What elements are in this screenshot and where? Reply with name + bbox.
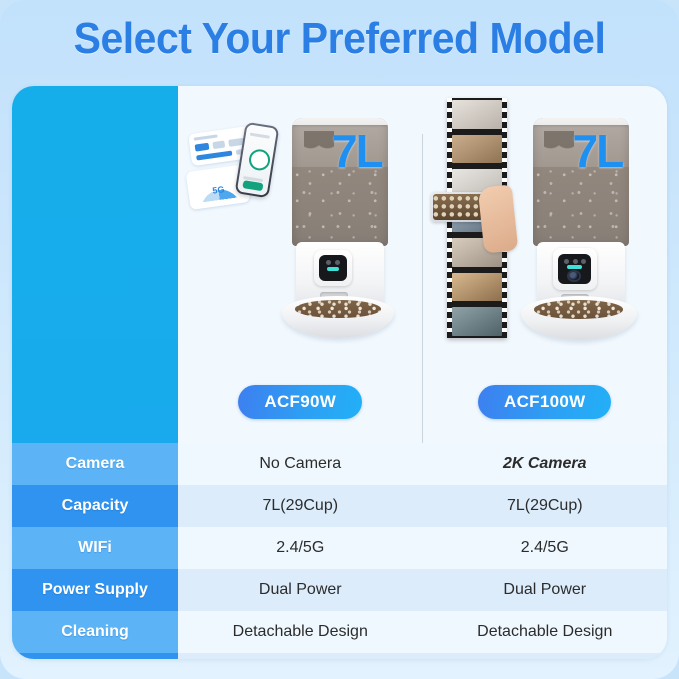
spec-label-wifi: WIFi <box>12 527 178 569</box>
spec-value-acf100w: 2K Camera <box>423 443 668 485</box>
spec-label-power-supply: Power Supply <box>12 569 178 611</box>
control-panel-screen-camera <box>558 254 591 284</box>
capacity-overlay-acf100w: 7L <box>573 124 623 178</box>
gauge-label: 5G <box>212 184 225 196</box>
spec-value-acf90w: APP Control <box>178 653 423 659</box>
spec-value-acf100w: Dual Power <box>423 569 668 611</box>
kibble-in-bowl <box>295 300 380 318</box>
feeder-illustration-acf90w: 7L <box>274 104 404 344</box>
spec-value-acf100w: 2.4/5G <box>423 527 668 569</box>
spec-label-setting-method: Setting Method <box>12 653 178 659</box>
kibble-in-bowl <box>534 300 622 318</box>
app-record-icon <box>248 148 272 172</box>
page-title: Select Your Preferred Model <box>24 14 655 64</box>
table-row: Setting MethodAPP ControlAPP Control <box>12 653 667 659</box>
spec-value-acf90w: Detachable Design <box>178 611 423 653</box>
spec-value-acf90w: 7L(29Cup) <box>178 485 423 527</box>
model-badge-acf100w[interactable]: ACF100W <box>478 385 611 419</box>
spec-value-acf90w: No Camera <box>178 443 423 485</box>
table-row: WIFi2.4/5G2.4/5G <box>12 527 667 569</box>
spec-value-acf100w: 7L(29Cup) <box>423 485 668 527</box>
product-cell-acf90w[interactable]: 5G 7 <box>178 86 423 357</box>
model-badge-acf90w[interactable]: ACF90W <box>238 385 362 419</box>
camera-lens-icon <box>569 272 579 280</box>
spec-value-acf90w: Dual Power <box>178 569 423 611</box>
spec-label-camera: Camera <box>12 443 178 485</box>
feeder-illustration-acf100w: 7L <box>515 104 645 344</box>
comparison-card: 5G 7 <box>12 86 667 659</box>
table-row: CameraNo Camera2K Camera <box>12 443 667 485</box>
spec-value-acf90w: 2.4/5G <box>178 527 423 569</box>
hand-graphic <box>477 184 518 253</box>
table-row: Power SupplyDual PowerDual Power <box>12 569 667 611</box>
table-row: Capacity7L(29Cup)7L(29Cup) <box>12 485 667 527</box>
product-cell-acf100w[interactable]: 7L <box>423 86 668 357</box>
spec-value-acf100w: Detachable Design <box>423 611 668 653</box>
control-panel-screen <box>319 255 347 281</box>
capacity-overlay-acf90w: 7L <box>332 124 382 178</box>
spec-label-capacity: Capacity <box>12 485 178 527</box>
table-row: CleaningDetachable DesignDetachable Desi… <box>12 611 667 653</box>
handheld-phone-preview <box>431 192 485 222</box>
spec-table: CameraNo Camera2K CameraCapacity7L(29Cup… <box>12 443 667 659</box>
comparison-page: Select Your Preferred Model 5G <box>0 0 679 679</box>
spec-value-acf100w: APP Control <box>423 653 668 659</box>
spec-label-cleaning: Cleaning <box>12 611 178 653</box>
